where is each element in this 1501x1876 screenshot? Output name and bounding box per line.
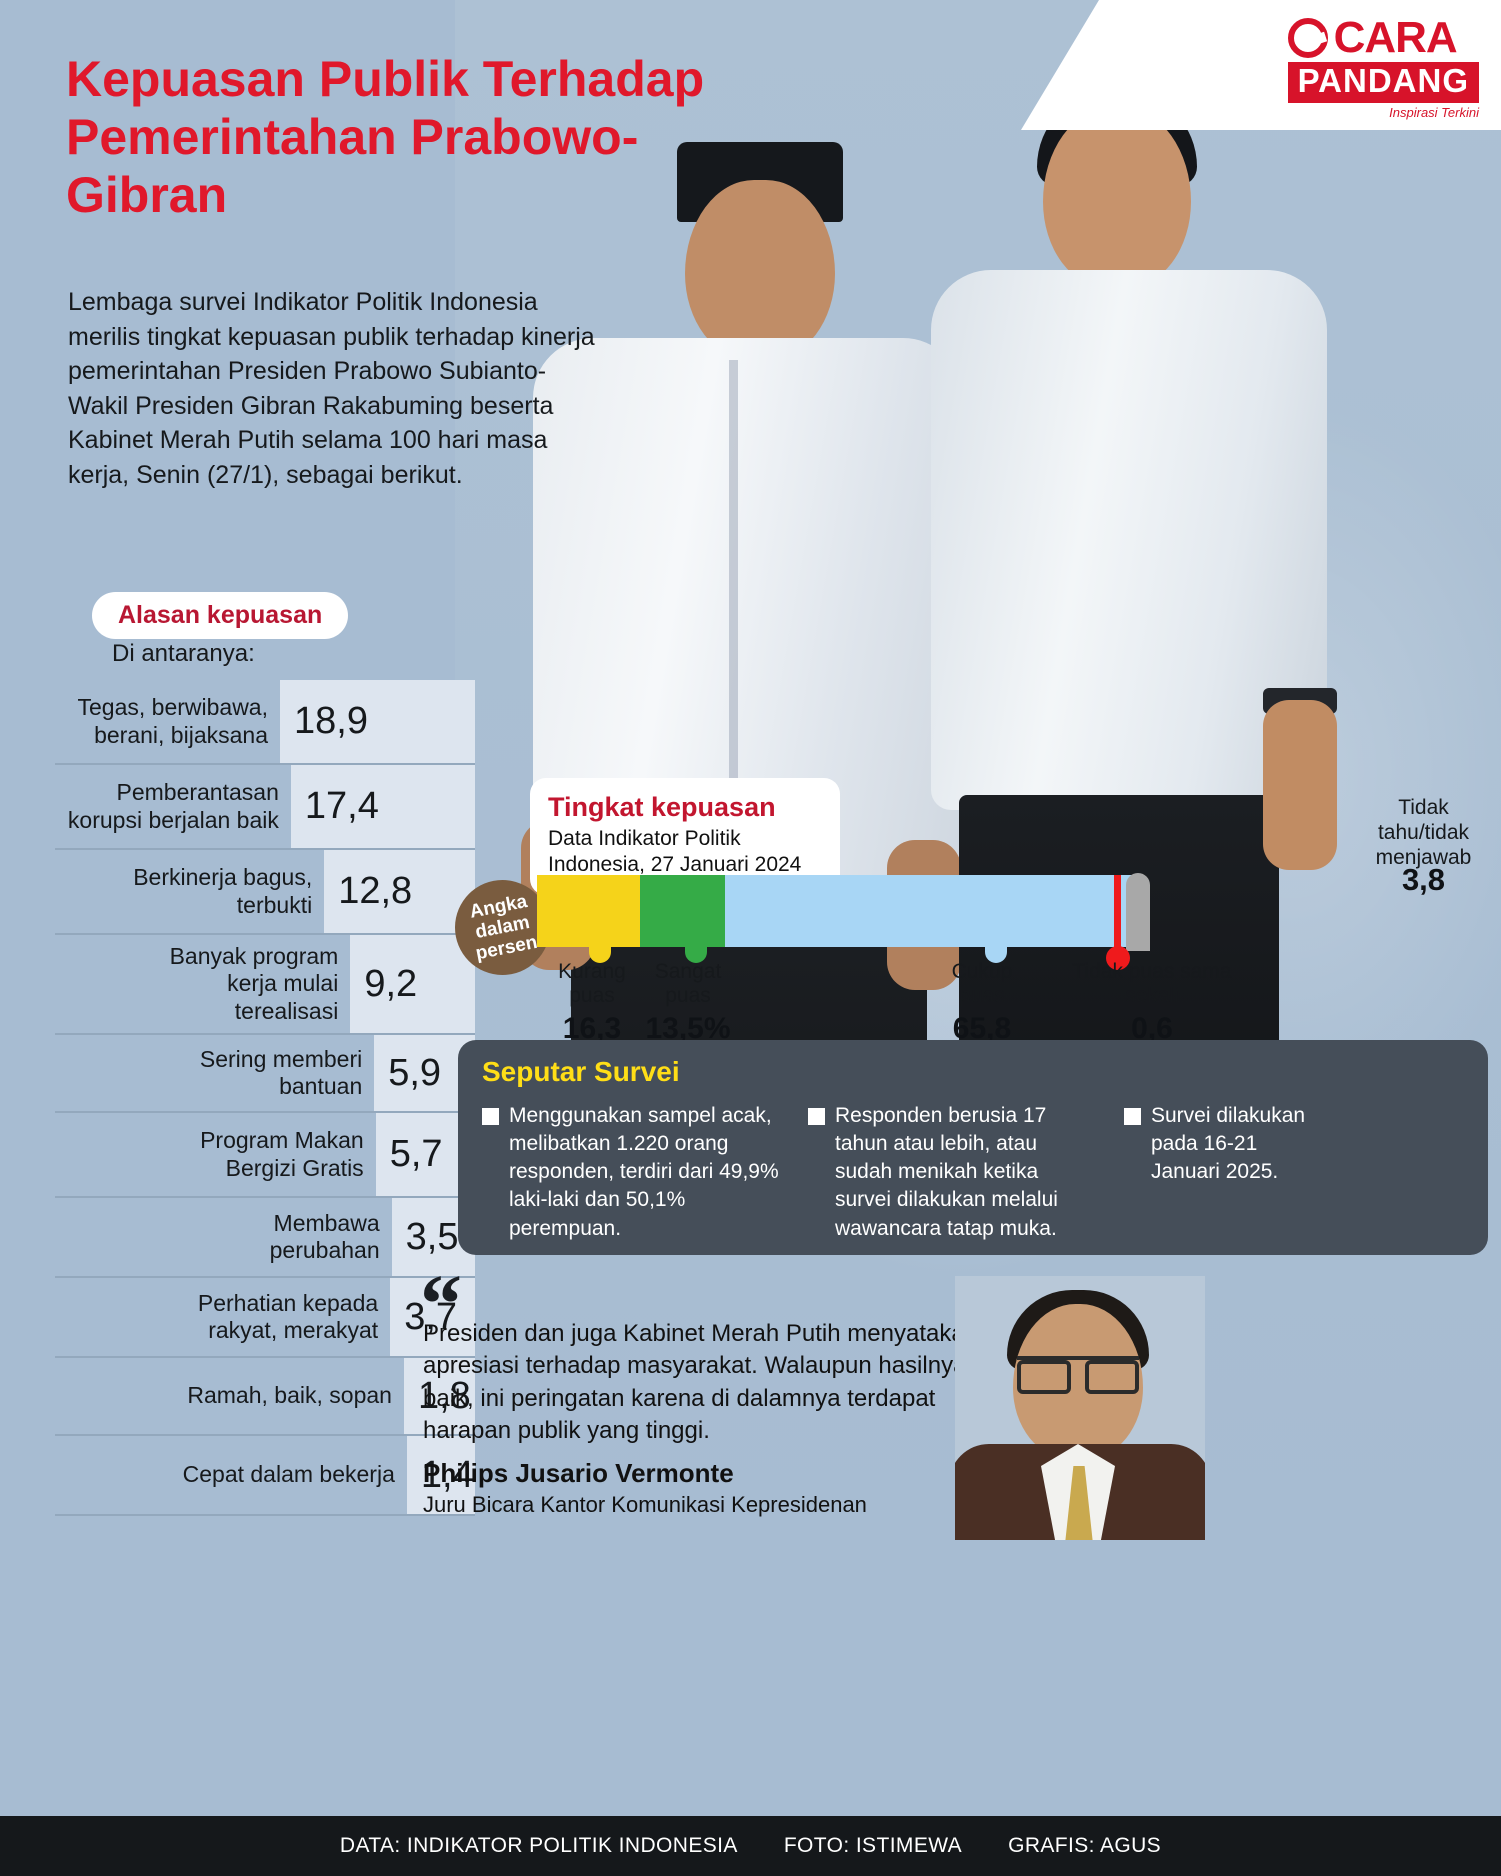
logo-tagline: Inspirasi Terkini xyxy=(1288,105,1479,120)
satisfaction-legend: Kurang puas16,3Sangat puas13,5%Cukup pua… xyxy=(537,960,1141,1050)
legend-label: Tidak puas sama sekali xyxy=(1072,960,1231,1007)
footer-data-credit: DATA: INDIKATOR POLITIK INDONESIA xyxy=(340,1834,738,1858)
survey-item-text: Responden berusia 17 tahun atau lebih, a… xyxy=(835,1102,1098,1243)
reason-row: Banyak program kerja mulai terealisasi9,… xyxy=(55,935,475,1035)
reason-row: Tegas, berwibawa, berani, bijaksana18,9 xyxy=(55,680,475,765)
reasons-subnote: Di antaranya: xyxy=(112,640,255,668)
survey-info-panel: Seputar Survei Menggunakan sampel acak, … xyxy=(458,1040,1488,1255)
reason-bar: 17,4 xyxy=(291,765,475,848)
reason-label: Cepat dalam bekerja xyxy=(182,1453,407,1496)
logo-name: CARA xyxy=(1334,16,1457,60)
gibran-head xyxy=(1043,108,1191,288)
bullet-square-icon xyxy=(808,1108,825,1125)
reason-label: Membawa perubahan xyxy=(167,1202,392,1272)
reason-label: Sering memberi bantuan xyxy=(149,1038,374,1108)
survey-panel-title: Seputar Survei xyxy=(482,1056,1464,1088)
reason-value: 3,5 xyxy=(406,1216,459,1259)
legend-label: Kurang puas xyxy=(558,960,626,1007)
reason-label: Pemberantasan korupsi berjalan baik xyxy=(66,771,291,841)
tidak-puas-marker-line xyxy=(1114,875,1121,957)
reason-label: Banyak program kerja mulai terealisasi xyxy=(125,935,350,1032)
quote-author-name: Philips Jusario Vermonte xyxy=(423,1458,734,1489)
reason-label: Program Makan Bergizi Gratis xyxy=(151,1119,376,1189)
bar-segment-0 xyxy=(537,875,640,947)
survey-item-text: Menggunakan sampel acak, melibatkan 1.22… xyxy=(509,1102,782,1243)
reason-value: 12,8 xyxy=(338,870,412,913)
reason-value: 17,4 xyxy=(305,785,379,828)
reason-bar: 12,8 xyxy=(324,850,475,933)
reason-bar: 9,2 xyxy=(350,935,475,1033)
reason-label: Berkinerja bagus, terbukti xyxy=(99,856,324,926)
satisfaction-source: Data Indikator Politik Indonesia, 27 Jan… xyxy=(548,826,822,879)
survey-item-text: Survei dilakukan pada 16-21 Januari 2025… xyxy=(1151,1102,1324,1243)
bar-segment-2 xyxy=(725,875,1141,947)
brand-logo: CARA PANDANG Inspirasi Terkini xyxy=(1288,16,1479,120)
reason-value: 5,7 xyxy=(390,1133,443,1176)
survey-item: Survei dilakukan pada 16-21 Januari 2025… xyxy=(1124,1102,1324,1243)
reason-value: 18,9 xyxy=(294,700,368,743)
footer-credits: DATA: INDIKATOR POLITIK INDONESIA FOTO: … xyxy=(0,1816,1501,1876)
reason-value: 9,2 xyxy=(364,963,417,1006)
quote-author-portrait xyxy=(955,1276,1205,1540)
legend-item: Tidak puas sama sekali0,6 xyxy=(1062,960,1242,1047)
bullet-square-icon xyxy=(1124,1108,1141,1125)
intro-paragraph: Lembaga survei Indikator Politik Indones… xyxy=(68,285,598,492)
reasons-pill-label: Alasan kepuasan xyxy=(92,592,348,639)
reason-row: Membawa perubahan3,5 xyxy=(55,1198,475,1278)
eyeglasses-icon xyxy=(1017,1356,1139,1382)
legend-item: Sangat puas13,5% xyxy=(633,960,743,1047)
reason-row: Cepat dalam bekerja1,4 xyxy=(55,1436,475,1516)
page-title: Kepuasan Publik Terhadap Pemerintahan Pr… xyxy=(66,50,726,224)
reason-label: Ramah, baik, sopan xyxy=(179,1374,404,1417)
quote-author-role: Juru Bicara Kantor Komunikasi Kepresiden… xyxy=(423,1492,867,1518)
logo-c-icon xyxy=(1288,18,1328,58)
gibran-right-hand xyxy=(1263,700,1337,870)
survey-item: Responden berusia 17 tahun atau lebih, a… xyxy=(808,1102,1098,1243)
legend-label: Sangat puas xyxy=(655,960,722,1007)
satisfaction-stacked-bar xyxy=(537,875,1141,947)
dont-know-label: Tidak tahu/tidak menjawab xyxy=(1356,795,1491,871)
bullet-square-icon xyxy=(482,1108,499,1125)
reason-row: Perhatian kepada rakyat, merakyat3,7 xyxy=(55,1278,475,1358)
legend-item: Cukup puas65,8 xyxy=(927,960,1037,1047)
survey-item: Menggunakan sampel acak, melibatkan 1.22… xyxy=(482,1102,782,1243)
legend-item: Kurang puas16,3 xyxy=(537,960,647,1047)
satisfaction-title: Tingkat kepuasan xyxy=(548,792,822,823)
reason-bar: 18,9 xyxy=(280,680,475,763)
reason-value: 5,9 xyxy=(388,1052,441,1095)
quote-text: Presiden dan juga Kabinet Merah Putih me… xyxy=(423,1318,1023,1448)
reason-row: Sering memberi bantuan5,9 xyxy=(55,1035,475,1113)
footer-photo-credit: FOTO: ISTIMEWA xyxy=(784,1834,962,1858)
reason-row: Pemberantasan korupsi berjalan baik17,4 xyxy=(55,765,475,850)
logo-subname: PANDANG xyxy=(1288,62,1479,103)
reason-label: Perhatian kepada rakyat, merakyat xyxy=(165,1282,390,1352)
dont-know-bar xyxy=(1126,873,1150,951)
reason-label: Tegas, berwibawa, berani, bijaksana xyxy=(55,686,280,756)
dont-know-value: 3,8 xyxy=(1356,862,1491,898)
reason-row: Ramah, baik, sopan1,8 xyxy=(55,1358,475,1436)
reason-row: Program Makan Bergizi Gratis5,7 xyxy=(55,1113,475,1198)
survey-columns: Menggunakan sampel acak, melibatkan 1.22… xyxy=(482,1102,1464,1243)
legend-label: Cukup puas xyxy=(952,960,1013,1007)
footer-graphics-credit: GRAFIS: AGUS xyxy=(1008,1834,1161,1858)
reason-row: Berkinerja bagus, terbukti12,8 xyxy=(55,850,475,935)
reasons-chart: Tegas, berwibawa, berani, bijaksana18,9P… xyxy=(55,680,475,1516)
bar-segment-1 xyxy=(640,875,725,947)
